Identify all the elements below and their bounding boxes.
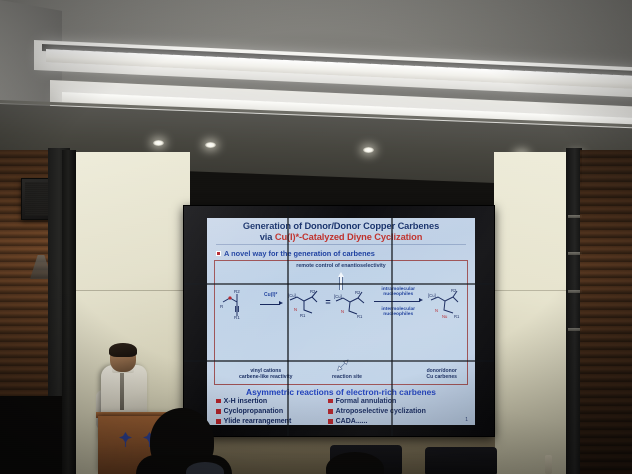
slide-subheading-row: A novel way for the generation of carben… xyxy=(207,247,475,259)
svg-text:R2: R2 xyxy=(234,289,240,294)
svg-text:[Cu]: [Cu] xyxy=(428,293,436,298)
bezel-seam-horizontal-1 xyxy=(184,283,494,285)
arrow-label-bottom-line2: nucleophiles xyxy=(383,312,413,317)
svg-text:R2: R2 xyxy=(310,289,316,294)
svg-text:R1: R1 xyxy=(234,315,240,319)
arrow-label-top-line2: nucleophiles xyxy=(383,292,413,297)
list-item: X-H insertion xyxy=(216,398,328,405)
reaction-label: CADA...... xyxy=(336,418,368,425)
svg-text:R1: R1 xyxy=(300,313,306,318)
bezel-seam-horizontal-2 xyxy=(184,360,494,362)
asymmetric-reactions-heading: Asymmetric reactions of electron-rich ca… xyxy=(207,385,475,398)
podium-emblem-left xyxy=(119,432,132,447)
scheme-top-label: remote control of enantioselectivity xyxy=(296,263,385,269)
caption-donor-line2: Cu carbenes xyxy=(426,374,457,380)
cream-wall-panel-right xyxy=(494,152,570,474)
square-bullet-icon xyxy=(216,409,221,414)
wall-panel-seam-right xyxy=(494,290,570,291)
caption-reaction-site: reaction site xyxy=(332,375,362,381)
caption-donor-donor: donor/donor Cu carbenes xyxy=(426,369,457,380)
downlight-1 xyxy=(153,140,164,146)
svg-text:Nu: Nu xyxy=(442,314,448,319)
square-bullet-icon xyxy=(216,399,221,404)
asymmetric-reactions-columns: X-H insertion Cyclopropanation Ylide rea… xyxy=(207,398,475,425)
equals-symbol: = xyxy=(325,297,330,307)
reaction-list-right: Formal annulation Atroposelective cycliz… xyxy=(328,398,468,425)
svg-text:N: N xyxy=(341,309,344,314)
square-bullet-icon xyxy=(328,399,333,404)
svg-text:[Cu]: [Cu] xyxy=(334,294,342,299)
foreground-shadow-left xyxy=(0,396,62,474)
arrow-shaft-2 xyxy=(374,301,420,302)
list-item: Ylide rearrangement xyxy=(216,418,328,425)
speaker-hair xyxy=(109,343,137,357)
svg-text:R1: R1 xyxy=(357,314,363,319)
downlight-5 xyxy=(205,142,216,148)
list-item: Formal annulation xyxy=(328,398,468,405)
svg-text:R: R xyxy=(220,304,224,309)
presentation-slide: Generation of Donor/Donor Copper Carbene… xyxy=(207,218,475,425)
caption-reaction-site-text: reaction site xyxy=(332,374,362,380)
reaction-scheme-box: remote control of enantioselectivity xyxy=(214,260,468,385)
reaction-label: Ylide rearrangement xyxy=(224,418,292,425)
reaction-list-left: X-H insertion Cyclopropanation Ylide rea… xyxy=(216,398,328,425)
reagent-label: Cu(I)* xyxy=(264,292,277,298)
square-bullet-icon xyxy=(328,419,333,424)
reaction-label: Formal annulation xyxy=(336,398,397,405)
molecule-resonance-form: [Cu] R2 R1 N xyxy=(334,285,368,319)
list-item: Cyclopropanation xyxy=(216,408,328,415)
arrow-label-top: intramolecular nucleophiles xyxy=(381,287,415,298)
svg-text:N: N xyxy=(294,307,297,312)
arrow-shaft-1 xyxy=(260,304,280,305)
reaction-label: Cyclopropanation xyxy=(224,408,284,415)
molecule-starting-material: R2 R1 R xyxy=(220,285,254,319)
speaker-lanyard xyxy=(120,372,124,410)
chair-silhouette-2 xyxy=(425,447,497,474)
wood-slat-wall-right-shading xyxy=(580,150,632,474)
molecule-donor-donor-carbene: [Cu] R2 R1 N Nu xyxy=(428,285,462,319)
video-wall-display[interactable]: Generation of Donor/Donor Copper Carbene… xyxy=(183,205,495,437)
reaction-label: X-H insertion xyxy=(224,398,268,405)
svg-text:R1: R1 xyxy=(454,314,460,319)
slide-subheading: A novel way for the generation of carben… xyxy=(224,249,375,258)
reaction-arrow-1: Cu(I)* xyxy=(258,293,284,311)
molecule-vinyl-cation: [Cu] R2 R1 N xyxy=(288,285,322,319)
slide-title-line-1: Generation of Donor/Donor Copper Carbene… xyxy=(211,221,471,232)
slide-title-via: via xyxy=(260,232,275,242)
caption-vinyl-cations: vinyl cations carbene-like reactivity xyxy=(239,369,293,380)
slide-title-line-2: via Cu(I)*-Catalyzed Diyne Cyclization xyxy=(211,232,471,243)
scheme-reaction-row: R2 R1 R Cu(I)* xyxy=(215,279,467,325)
svg-text:R2: R2 xyxy=(451,288,457,293)
front-pillar-left xyxy=(62,150,76,474)
svg-text:R2: R2 xyxy=(355,290,361,295)
downlight-2 xyxy=(363,147,374,153)
bezel-seam-vertical-1 xyxy=(287,206,289,436)
slide-title-block: Generation of Donor/Donor Copper Carbene… xyxy=(207,218,475,247)
wall-panel-seam-left xyxy=(68,290,190,291)
list-item: Atroposelective cyclization xyxy=(328,408,468,415)
arrow-label-bottom: intermolecular nucleophiles xyxy=(381,307,415,318)
conference-hall-photo: Generation of Donor/Donor Copper Carbene… xyxy=(0,0,632,474)
reaction-arrow-2: intramolecular nucleophiles intermolecul… xyxy=(372,289,424,315)
reaction-label: Atroposelective cyclization xyxy=(336,408,426,415)
list-item: CADA...... xyxy=(328,418,468,425)
square-bullet-icon xyxy=(216,419,221,424)
square-bullet-icon xyxy=(216,251,221,256)
arrow-head-1 xyxy=(279,301,283,305)
water-bottle xyxy=(545,455,552,474)
square-bullet-icon xyxy=(328,409,333,414)
bezel-seam-vertical-2 xyxy=(391,206,393,436)
slide-title-highlight: Cu(I)*-Catalyzed Diyne Cyclization xyxy=(275,232,422,242)
slide-number: 1 xyxy=(465,417,468,423)
title-divider xyxy=(216,244,466,245)
caption-vinyl-line2: carbene-like reactivity xyxy=(239,374,293,380)
arrow-head-2 xyxy=(419,298,423,302)
svg-text:N: N xyxy=(435,308,438,313)
